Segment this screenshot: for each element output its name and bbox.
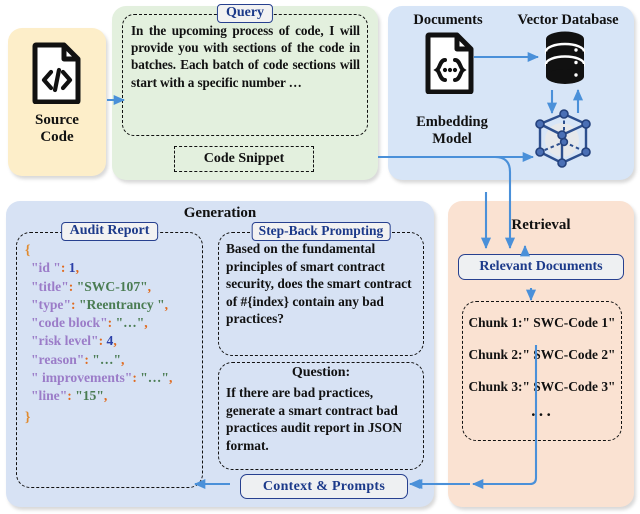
question-heading: Question: <box>219 365 423 381</box>
chunk-item: Chunk 2:" SWC-Code 2" <box>463 347 621 363</box>
json-field-row: "type": "Reentrancy ", <box>25 296 198 314</box>
json-colon: : <box>61 260 69 275</box>
code-snippet-box: Code Snippet <box>174 146 314 172</box>
question-box: Question: If there are bad practices, ge… <box>218 362 424 470</box>
json-comma: , <box>144 315 147 330</box>
json-field-key: "risk level" <box>31 333 99 348</box>
json-comma: , <box>113 333 116 348</box>
json-colon: : <box>99 333 107 348</box>
json-field-key: "reason" <box>31 352 84 367</box>
json-field-key: " improvements" <box>31 370 132 385</box>
json-colon: : <box>108 315 116 330</box>
query-panel: Query In the upcoming process of code, I… <box>112 6 378 180</box>
vector-cube-icon <box>526 102 598 179</box>
json-colon: : <box>69 279 77 294</box>
vector-database-label: Vector Database <box>506 12 630 29</box>
generation-title: Generation <box>6 205 434 222</box>
json-brace: } <box>25 409 30 424</box>
json-field-value: "…" <box>116 315 145 330</box>
step-back-prompting-title-label: Step-Back Prompting <box>252 222 391 241</box>
embedding-model-label-line1: Embedding <box>392 114 512 131</box>
json-field-value: 1 <box>69 260 76 275</box>
json-field-row: "title": "SWC-107", <box>25 278 198 296</box>
json-comma: , <box>76 260 79 275</box>
step-back-prompting-text: Based on the fundamental principles of s… <box>226 240 418 328</box>
step-back-prompting-box: Step-Back Prompting Based on the fundame… <box>218 232 424 356</box>
json-field-value: "Reentrancy " <box>79 297 165 312</box>
json-field-key: "id " <box>31 260 61 275</box>
embedding-model-label-line2: Model <box>392 131 512 148</box>
json-colon: : <box>67 388 75 403</box>
json-field-value: "15" <box>75 388 104 403</box>
retrieval-panel: Retrieval Relevant Documents Chunk 1:" S… <box>448 201 634 507</box>
json-comma: , <box>104 388 107 403</box>
indexing-panel: Documents Vector Database Embedding Mode… <box>388 6 634 180</box>
audit-report-json: {"id ": 1,"title": "SWC-107","type": "Re… <box>25 241 198 426</box>
context-and-prompts-label: Context & Prompts <box>263 479 385 495</box>
json-field-value: "SWC-107" <box>77 279 148 294</box>
embedding-model-label: Embedding Model <box>392 114 512 147</box>
source-code-file-icon <box>31 42 83 109</box>
json-field-row: " improvements": "…", <box>25 369 198 387</box>
json-comma: , <box>169 370 172 385</box>
json-field-row: "code block": "…", <box>25 314 198 332</box>
json-field-key: "title" <box>31 279 69 294</box>
json-field-row: "risk level": 4, <box>25 332 198 350</box>
audit-report-title-label: Audit Report <box>61 222 159 241</box>
query-box: Query In the upcoming process of code, I… <box>122 14 368 136</box>
source-code-label-line2: Code <box>8 129 106 146</box>
json-field-value: "…" <box>140 370 169 385</box>
question-text: If there are bad practices, generate a s… <box>226 384 418 454</box>
json-field-row: "id ": 1, <box>25 259 198 277</box>
json-field-value: "…" <box>92 352 121 367</box>
relevant-documents-pill: Relevant Documents <box>458 254 624 280</box>
database-cylinder-icon <box>542 30 588 93</box>
chunk-item: Chunk 3:" SWC-Code 3" <box>463 379 621 395</box>
retrieval-title: Retrieval <box>448 217 634 234</box>
source-code-label: Source Code <box>8 112 106 146</box>
json-field-key: "type" <box>31 297 71 312</box>
documents-label: Documents <box>396 12 500 29</box>
json-field-key: "code block" <box>31 315 108 330</box>
chunks-box: Chunk 1:" SWC-Code 1" Chunk 2:" SWC-Code… <box>462 301 622 441</box>
diagram-canvas: Source Code Query In the upcoming proces… <box>0 0 640 514</box>
json-brace: { <box>25 242 30 257</box>
chunk-item: Chunk 1:" SWC-Code 1" <box>463 315 621 331</box>
audit-report-box: Audit Report {"id ": 1,"title": "SWC-107… <box>16 232 203 488</box>
json-field-key: "line" <box>31 388 67 403</box>
json-open-brace: { <box>25 241 198 259</box>
code-snippet-label: Code Snippet <box>204 151 285 167</box>
query-title-label: Query <box>217 4 273 23</box>
relevant-documents-label: Relevant Documents <box>479 259 602 275</box>
json-comma: , <box>121 352 124 367</box>
chunks-ellipsis: ··· <box>463 405 621 425</box>
source-code-label-line1: Source <box>8 112 106 129</box>
json-field-row: "reason": "…", <box>25 351 198 369</box>
context-and-prompts-pill: Context & Prompts <box>240 474 408 499</box>
json-document-icon <box>424 32 476 99</box>
json-comma: , <box>148 279 151 294</box>
json-colon: : <box>71 297 79 312</box>
json-field-row: "line": "15", <box>25 387 198 405</box>
query-text: In the upcoming process of code, I will … <box>131 22 360 91</box>
source-code-card: Source Code <box>8 28 106 176</box>
json-close-brace: } <box>25 408 198 426</box>
json-comma: , <box>165 297 168 312</box>
generation-panel: Generation Audit Report {"id ": 1,"title… <box>6 201 434 507</box>
